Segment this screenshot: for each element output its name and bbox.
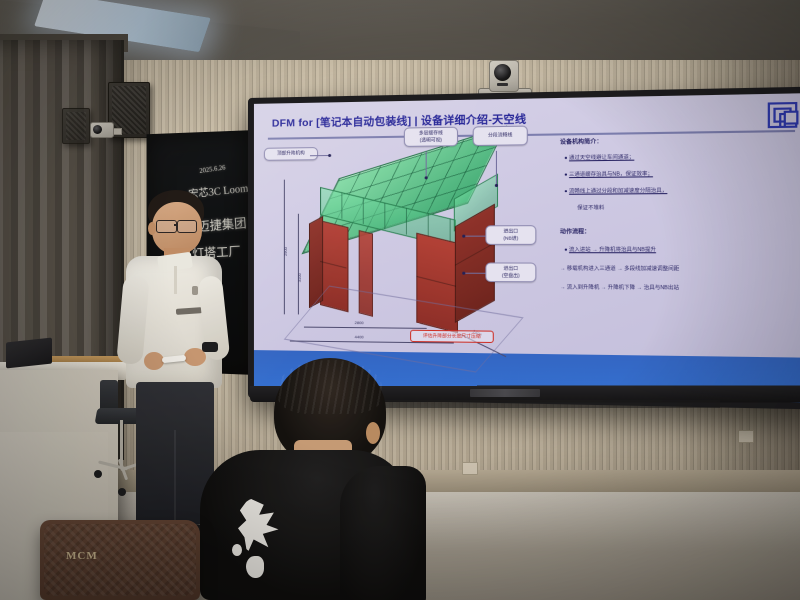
flow-item-3: → 流入到升降机 → 升降机下降 → 治具与NB出站 — [560, 283, 679, 291]
presenter-logo — [192, 286, 198, 295]
podium-monitor[interactable] — [6, 338, 52, 369]
callout-buffer-line: 多层缓存线 (透明可视) — [404, 127, 458, 148]
leader-line-5 — [464, 273, 485, 274]
camera-lens — [494, 64, 511, 81]
camera-lens-left — [93, 125, 102, 134]
audience-shoulder-right — [340, 466, 426, 600]
audience-shirt-graphic-2 — [246, 556, 264, 578]
presentation-slide: DFM for [笔记本自动包装线] | 设备详细介绍-天空线 — [254, 93, 800, 403]
leader-line-2 — [426, 152, 427, 179]
wall-speaker-small — [62, 108, 90, 144]
dim-height-lower: 3100 — [297, 273, 302, 282]
dim-vertical-inner — [298, 214, 299, 315]
spec-section-title: 设备机构简介： — [560, 137, 602, 146]
red-annotation-text: 评估升降部分长度尺寸压缩 — [423, 333, 481, 339]
presenter-glasses-bridge — [174, 224, 178, 226]
slide-title-rule — [268, 130, 795, 140]
callout-outlet-tray-label2: (空盘出) — [490, 272, 533, 279]
leader-line-1 — [310, 155, 330, 156]
spec-item-3-text: 流畅线上通过分段和加减速度分隔治具， — [569, 188, 667, 195]
chair-wheel-1 — [94, 470, 102, 478]
leader-line-3 — [496, 151, 497, 186]
wall-outlet[interactable] — [462, 462, 478, 475]
display-screen[interactable]: DFM for [笔记本自动包装线] | 设备详细介绍-天空线 — [254, 93, 800, 403]
spec-item-4: 保证不堆料 — [577, 204, 604, 211]
camera-indicator — [497, 83, 508, 86]
leader-dot-3 — [495, 184, 498, 187]
wall-outlet-2[interactable] — [738, 430, 754, 443]
flow-item-1-text: 流入进站 → 升降机将治具与NB提升 — [569, 247, 656, 253]
callout-buffer-line-label2: (透明可视) — [408, 137, 454, 144]
company-logo-icon — [768, 102, 798, 128]
handbag-logo: MCM — [66, 550, 98, 562]
callout-top-lift: 顶部升降机构 — [264, 147, 318, 160]
presenter-watch — [202, 342, 218, 352]
chair-wheel-3 — [118, 488, 126, 496]
spec-item-2-text: 三通道缓存治具与NB，保证效率； — [569, 171, 653, 178]
audience-hair-strands — [278, 360, 382, 414]
handbag: MCM — [40, 520, 200, 600]
callout-segmented-line-label: 分段流畅线 — [488, 132, 512, 138]
presenter-placket — [174, 266, 177, 294]
presenter-hand-left — [144, 352, 164, 370]
flow-item-1: ● 流入进站 → 升降机将治具与NB提升 — [564, 246, 656, 253]
dim-height-upper: 2900 — [283, 247, 288, 256]
flow-section-title: 动作流程： — [560, 227, 590, 235]
callout-segmented-line: 分段流畅线 — [473, 126, 528, 146]
leader-dot-4 — [462, 235, 465, 238]
spec-item-1-text: 通过天空线避让车间通道； — [569, 154, 634, 161]
leader-dot-1 — [328, 154, 331, 157]
display-brand-plate — [470, 389, 540, 397]
leader-dot-2 — [425, 176, 428, 179]
dim-width-inner: 2800 — [355, 320, 364, 325]
callout-inlet-nb: 进出口 (NB进) — [485, 225, 536, 245]
leader-line-4 — [464, 236, 485, 237]
flow-item-2: → 移载机构进入三通道 → 多段线加减速调整间距 — [560, 265, 679, 273]
audience-shirt-graphic-3 — [232, 544, 242, 556]
chalk-line-1: 2025.6.26 — [199, 163, 226, 174]
presenter-glasses — [156, 220, 177, 233]
dim-width-outer: 4400 — [355, 334, 364, 339]
spec-item-3: ● 流畅线上通过分段和加减速度分隔治具， — [564, 187, 667, 195]
presenter-glasses-right — [177, 220, 197, 233]
callout-inlet-nb-label2: (NB进) — [490, 235, 533, 242]
audience-ear — [366, 422, 380, 444]
spec-item-1: ● 通过天空线避让车间通道； — [564, 153, 634, 161]
leader-dot-5 — [462, 272, 465, 275]
presenter-leg-split — [174, 430, 176, 526]
classroom-scene: 2025.6.26 宏芯3C Loom 迈捷集团 灯塔工厂 DFM for [笔… — [0, 0, 800, 600]
callout-outlet-tray: 进出口 (空盘出) — [485, 262, 536, 282]
spec-item-2: ● 三通道缓存治具与NB，保证效率； — [564, 170, 653, 178]
red-annotation-box: 评估升降部分长度尺寸压缩 — [410, 330, 494, 344]
presenter-ear — [148, 222, 156, 235]
chalk-line-3: 迈捷集团 — [197, 212, 247, 235]
callout-top-lift-label: 顶部升降机构 — [277, 150, 305, 155]
